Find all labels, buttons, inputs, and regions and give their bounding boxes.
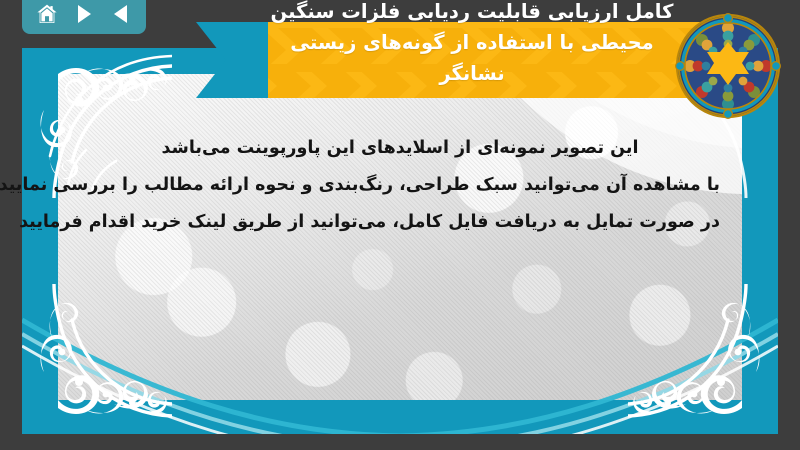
previous-button[interactable] <box>105 0 137 28</box>
triangle-left-icon <box>111 3 131 25</box>
body-paragraph-1: این تصویر نمونه‌ای از اسلایدهای این پاور… <box>80 130 720 167</box>
chevron-pattern <box>268 22 720 98</box>
slide-viewer: کامل ارزیابی قابلیت ردیابی فلزات سنگین م… <box>0 0 800 450</box>
title-banner <box>268 22 720 98</box>
navigation-toolbar <box>22 0 146 34</box>
body-paragraph-3: در صورت تمایل به دریافت فایل کامل، می‌تو… <box>80 204 720 241</box>
triangle-right-icon <box>74 3 94 25</box>
body-paragraph-2: با مشاهده آن می‌توانید سبک طراحی، رنگ‌بن… <box>80 167 720 204</box>
home-button[interactable] <box>31 0 63 28</box>
slide-frame <box>22 48 778 434</box>
slide-body-text: این تصویر نمونه‌ای از اسلایدهای این پاور… <box>80 130 720 241</box>
ornamental-medallion <box>674 12 782 120</box>
title-banner-wedge <box>196 22 270 98</box>
next-button[interactable] <box>68 0 100 28</box>
home-icon <box>35 2 59 26</box>
